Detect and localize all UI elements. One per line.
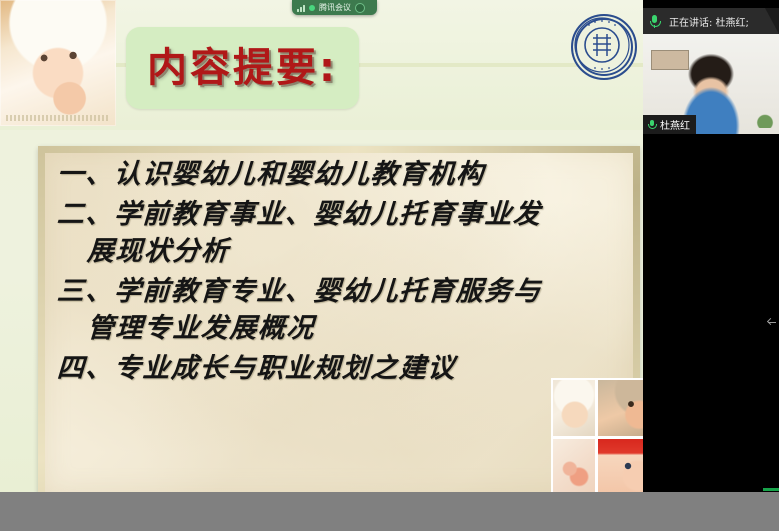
presentation-slide: 内容提要: 一、认识婴幼儿和婴幼儿教育机构	[0, 0, 672, 492]
video-panel: 正在讲话: 杜燕红; 杜燕红	[643, 0, 779, 492]
outline-list: 一、认识婴幼儿和婴幼儿教育机构 二、学前教育事业、婴幼儿托育事业发 展现状分析 …	[57, 161, 623, 392]
screen-capture: 内容提要: 一、认识婴幼儿和婴幼儿教育机构	[0, 0, 779, 531]
outline-item: 展现状分析	[56, 238, 623, 265]
collage-photo	[552, 438, 596, 492]
page-title: 内容提要:	[147, 48, 338, 88]
collapse-arrow-icon[interactable]	[768, 318, 777, 327]
signal-bars-icon	[297, 4, 305, 12]
background-plant	[755, 110, 775, 128]
speaking-status-bar: 正在讲话: 杜燕红;	[643, 8, 779, 34]
outline-item: 三、学前教育专业、婴幼儿托育服务与	[56, 278, 623, 305]
university-seal-logo	[571, 14, 637, 80]
bottom-system-bar	[0, 492, 779, 531]
outline-item: 一、认识婴幼儿和婴幼儿教育机构	[56, 161, 623, 188]
microphone-icon	[649, 14, 660, 29]
slide-title-box: 内容提要:	[126, 27, 359, 109]
participant-name: 杜燕红	[660, 117, 690, 132]
microphone-icon	[647, 119, 656, 131]
participant-video-tile[interactable]: 杜燕红	[643, 34, 779, 134]
green-edge-marker	[763, 488, 779, 491]
collage-photo	[552, 379, 596, 437]
tencent-meeting-pill[interactable]: 腾讯会议	[292, 0, 377, 15]
outline-item: 二、学前教育事业、婴幼儿托育事业发	[56, 201, 623, 228]
speaking-status-text: 正在讲话: 杜燕红;	[669, 14, 749, 29]
baby-photo-top-left	[0, 0, 116, 126]
outline-item: 四、专业成长与职业规划之建议	[56, 355, 623, 382]
background-picture-frame	[651, 50, 689, 70]
content-outline-panel: 一、认识婴幼儿和婴幼儿教育机构 二、学前教育事业、婴幼儿托育事业发 展现状分析 …	[38, 146, 640, 492]
status-dot-icon	[309, 5, 315, 11]
expand-dot-icon[interactable]	[355, 3, 365, 13]
bar-corner-fold	[765, 8, 779, 34]
tencent-meeting-label: 腾讯会议	[319, 4, 351, 12]
participant-name-tag: 杜燕红	[643, 115, 696, 134]
outline-item: 管理专业发展概况	[56, 315, 623, 342]
